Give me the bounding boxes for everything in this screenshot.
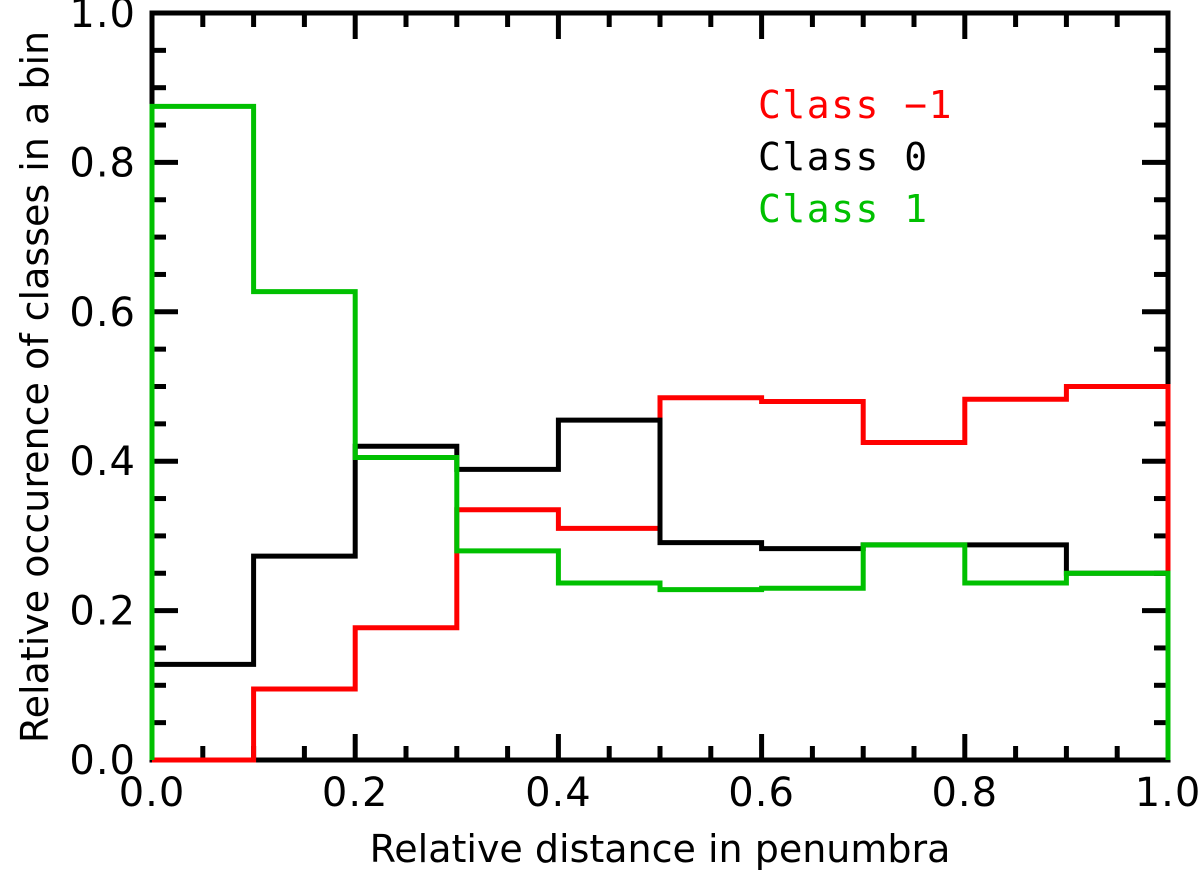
x-tick-label: 0.2 bbox=[322, 770, 389, 816]
x-tick-label: 0.6 bbox=[728, 770, 795, 816]
x-tick-label: 0.4 bbox=[525, 770, 592, 816]
y-tick-label: 0.2 bbox=[69, 589, 136, 635]
x-tick-label: 0.8 bbox=[931, 770, 998, 816]
y-tick-label: 1.0 bbox=[69, 0, 136, 37]
legend-entry-0: Class −1 bbox=[758, 83, 953, 127]
y-tick-label: 0.8 bbox=[69, 140, 136, 186]
y-tick-label: 0.4 bbox=[69, 439, 136, 485]
x-axis-title: Relative distance in penumbra bbox=[370, 827, 951, 871]
legend-entry-2: Class 1 bbox=[758, 187, 929, 231]
figure-background bbox=[0, 0, 1200, 880]
x-tick-label: 1.0 bbox=[1135, 770, 1200, 816]
y-tick-label: 0.6 bbox=[69, 290, 136, 336]
y-axis-title: Relative occurence of classes in a bin bbox=[13, 31, 57, 743]
legend: Class −1Class 0Class 1 bbox=[758, 83, 953, 231]
x-tick-label: 0.0 bbox=[119, 770, 186, 816]
histogram-figure: 0.00.20.40.60.81.0 0.00.20.40.60.81.0 Re… bbox=[0, 0, 1200, 880]
plot-canvas: 0.00.20.40.60.81.0 0.00.20.40.60.81.0 Re… bbox=[0, 0, 1200, 880]
legend-entry-1: Class 0 bbox=[758, 135, 929, 179]
